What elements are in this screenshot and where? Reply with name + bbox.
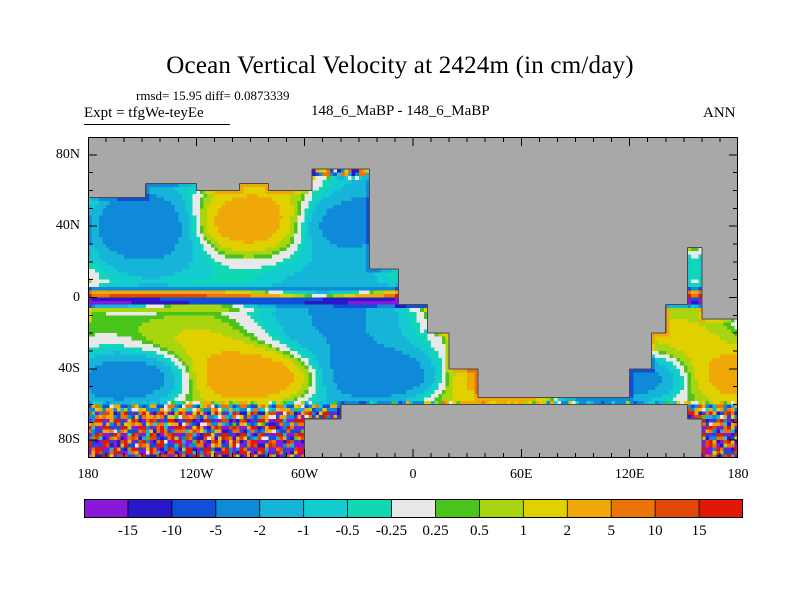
colorbar — [84, 499, 743, 518]
colorbar-tick-label: -0.5 — [325, 524, 371, 539]
experiment-label: Expt = tfgWe-teyEe — [84, 105, 204, 122]
colorbar-tick-label: 10 — [632, 524, 678, 539]
season-label: ANN — [703, 105, 736, 122]
colorbar-tick-label: -10 — [149, 524, 195, 539]
colorbar-tick-label: 2 — [544, 524, 590, 539]
x-tick-label: 120W — [166, 468, 226, 482]
colorbar-tick-label: -5 — [193, 524, 239, 539]
colorbar-tick-label: 0.5 — [456, 524, 502, 539]
map-field — [88, 137, 738, 458]
y-tick-label: 80N — [36, 148, 80, 162]
figure-canvas: Ocean Vertical Velocity at 2424m (in cm/… — [0, 0, 800, 600]
colorbar-tick-label: -0.25 — [369, 524, 415, 539]
y-tick-label: 0 — [36, 291, 80, 305]
map-plot-area — [88, 137, 738, 458]
x-tick-label: 60W — [275, 468, 335, 482]
case-comparison-label: 148_6_MaBP - 148_6_MaBP — [311, 103, 490, 120]
x-tick-label: 180 — [708, 468, 768, 482]
colorbar-tick-label: -15 — [105, 524, 151, 539]
x-tick-label: 180 — [58, 468, 118, 482]
x-tick-label: 0 — [383, 468, 443, 482]
rmsd-annotation: rmsd= 15.95 diff= 0.0873339 — [136, 88, 289, 104]
y-tick-label: 40S — [36, 362, 80, 376]
colorbar-tick-label: 5 — [588, 524, 634, 539]
y-tick-label: 40N — [36, 219, 80, 233]
colorbar-tick-label: 1 — [500, 524, 546, 539]
colorbar-tick-label: -2 — [237, 524, 283, 539]
y-tick-label: 80S — [36, 433, 80, 447]
x-tick-label: 60E — [491, 468, 551, 482]
colorbar-swatches — [84, 499, 743, 518]
colorbar-tick-label: 15 — [676, 524, 722, 539]
page-title: Ocean Vertical Velocity at 2424m (in cm/… — [0, 52, 800, 80]
colorbar-tick-label: -1 — [281, 524, 327, 539]
x-tick-label: 120E — [600, 468, 660, 482]
experiment-underline — [84, 124, 230, 125]
colorbar-tick-label: 0.25 — [412, 524, 458, 539]
